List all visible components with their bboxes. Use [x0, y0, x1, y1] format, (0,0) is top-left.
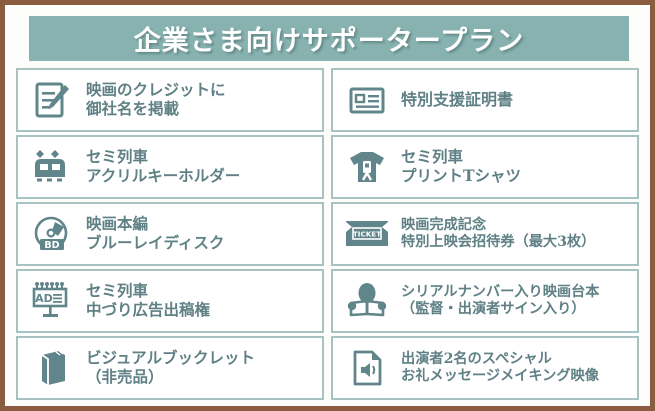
banner: 企業さま向けサポータープラン	[29, 16, 629, 61]
certificate-icon	[341, 76, 393, 124]
benefit-label: 映画本編 ブルーレイディスク	[86, 215, 224, 253]
benefit-card-booklet[interactable]: ビジュアルブックレット （非売品）	[16, 336, 324, 400]
svg-text:BD: BD	[44, 240, 59, 251]
page-title: 企業さま向けサポータープラン	[134, 19, 524, 58]
benefit-label: 映画完成記念 特別上映会招待券（最大3枚）	[401, 217, 595, 252]
benefit-card-certificate[interactable]: 特別支援証明書	[331, 68, 639, 132]
document-pen-icon	[26, 76, 78, 124]
benefit-label: セミ列車 プリントTシャツ	[401, 148, 521, 186]
benefit-label: セミ列車 アクリルキーホルダー	[86, 148, 240, 186]
video-file-icon	[341, 344, 393, 392]
benefit-card-tshirt[interactable]: セミ列車 プリントTシャツ	[331, 135, 639, 199]
book-icon	[26, 344, 78, 392]
benefits-grid: 映画のクレジットに 御社名を掲載 特別支援証明書	[16, 68, 639, 400]
benefit-label: 出演者2名のスペシャル お礼メッセージメイキング映像	[401, 351, 599, 386]
benefit-card-ticket[interactable]: TICKET 映画完成記念 特別上映会招待券（最大3枚）	[331, 202, 639, 266]
plan-page: 企業さま向けサポータープラン 映画のクレジットに 御社名を掲載	[5, 5, 650, 406]
person-reading-icon	[341, 277, 393, 325]
benefit-label: ビジュアルブックレット （非売品）	[86, 349, 255, 387]
benefit-card-keyholder[interactable]: セミ列車 アクリルキーホルダー	[16, 135, 324, 199]
ad-board-icon: AD	[26, 277, 78, 325]
benefit-label: 映画のクレジットに 御社名を掲載	[86, 81, 226, 119]
benefit-card-script[interactable]: シリアルナンバー入り映画台本 （監督・出演者サイン入り）	[331, 269, 639, 333]
ticket-icon: TICKET	[341, 210, 393, 258]
svg-text:TICKET: TICKET	[353, 230, 381, 239]
bluray-disc-icon: BD	[26, 210, 78, 258]
benefit-card-credit[interactable]: 映画のクレジットに 御社名を掲載	[16, 68, 324, 132]
benefit-card-video[interactable]: 出演者2名のスペシャル お礼メッセージメイキング映像	[331, 336, 639, 400]
benefit-label: セミ列車 中づり広告出稿権	[86, 282, 210, 320]
benefit-card-bluray[interactable]: BD 映画本編 ブルーレイディスク	[16, 202, 324, 266]
svg-text:AD: AD	[35, 292, 53, 305]
benefit-label: シリアルナンバー入り映画台本 （監督・出演者サイン入り）	[401, 284, 599, 319]
train-icon	[26, 143, 78, 191]
tshirt-icon	[341, 143, 393, 191]
benefit-card-ad[interactable]: AD セミ列車 中づり広告出稿権	[16, 269, 324, 333]
benefit-label: 特別支援証明書	[401, 90, 513, 110]
